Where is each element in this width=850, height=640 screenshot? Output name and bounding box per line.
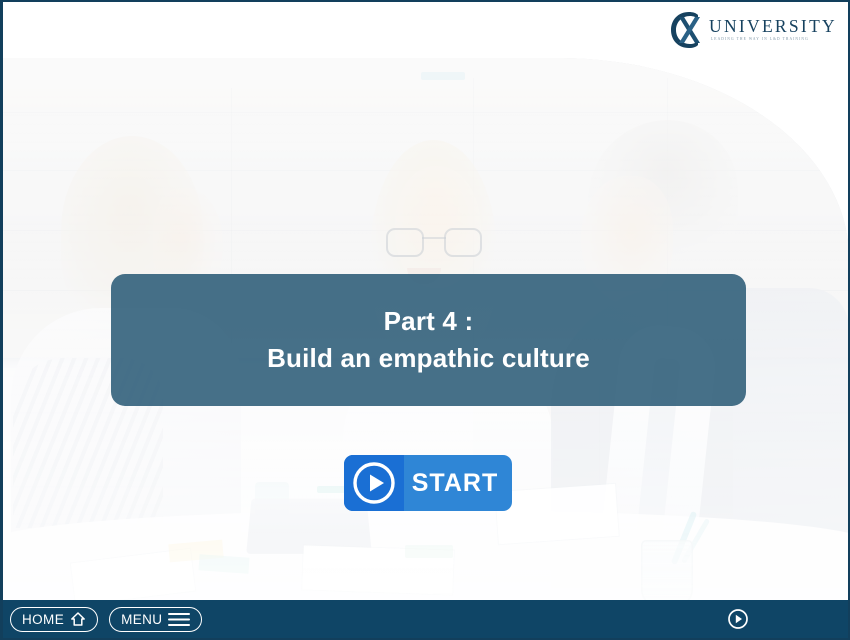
photo-person-center-glasses <box>386 228 482 253</box>
hamburger-icon <box>168 612 190 627</box>
menu-button[interactable]: MENU <box>109 607 202 632</box>
slide-title-card: Part 4 : Build an empathic culture <box>111 274 746 406</box>
photo-document <box>495 484 618 544</box>
university-logo: UNIVERSITY LEADING THE WAY IN L&D TRAINI… <box>669 10 837 50</box>
home-button[interactable]: HOME <box>10 607 98 632</box>
slide-header: UNIVERSITY LEADING THE WAY IN L&D TRAINI… <box>3 2 850 58</box>
player-bottom-bar: HOME MENU <box>3 600 849 638</box>
title-line-part: Part 4 : <box>384 303 474 340</box>
play-circle-icon <box>727 608 749 630</box>
slide-stage: Part 4 : Build an empathic culture START <box>3 58 849 600</box>
home-button-label: HOME <box>22 612 64 627</box>
logo-tagline: LEADING THE WAY IN L&D TRAINING <box>711 38 837 42</box>
menu-button-label: MENU <box>121 612 162 627</box>
photo-wall-line <box>3 112 849 113</box>
x-university-monogram-icon <box>669 10 711 50</box>
home-icon <box>70 611 86 627</box>
start-button-icon-area[interactable] <box>344 455 404 511</box>
play-circle-icon <box>352 461 396 505</box>
title-line-subject: Build an empathic culture <box>267 340 590 377</box>
course-slide: UNIVERSITY LEADING THE WAY IN L&D TRAINI… <box>0 0 850 640</box>
photo-sticky-note <box>199 554 250 573</box>
photo-glass <box>641 540 693 600</box>
photo-accent-green <box>405 545 453 558</box>
play-pause-button[interactable] <box>727 608 749 630</box>
logo-name: UNIVERSITY <box>709 18 837 36</box>
photo-accent-blue <box>421 72 465 80</box>
start-button-label: START <box>404 469 512 498</box>
start-button[interactable]: START <box>344 455 512 511</box>
